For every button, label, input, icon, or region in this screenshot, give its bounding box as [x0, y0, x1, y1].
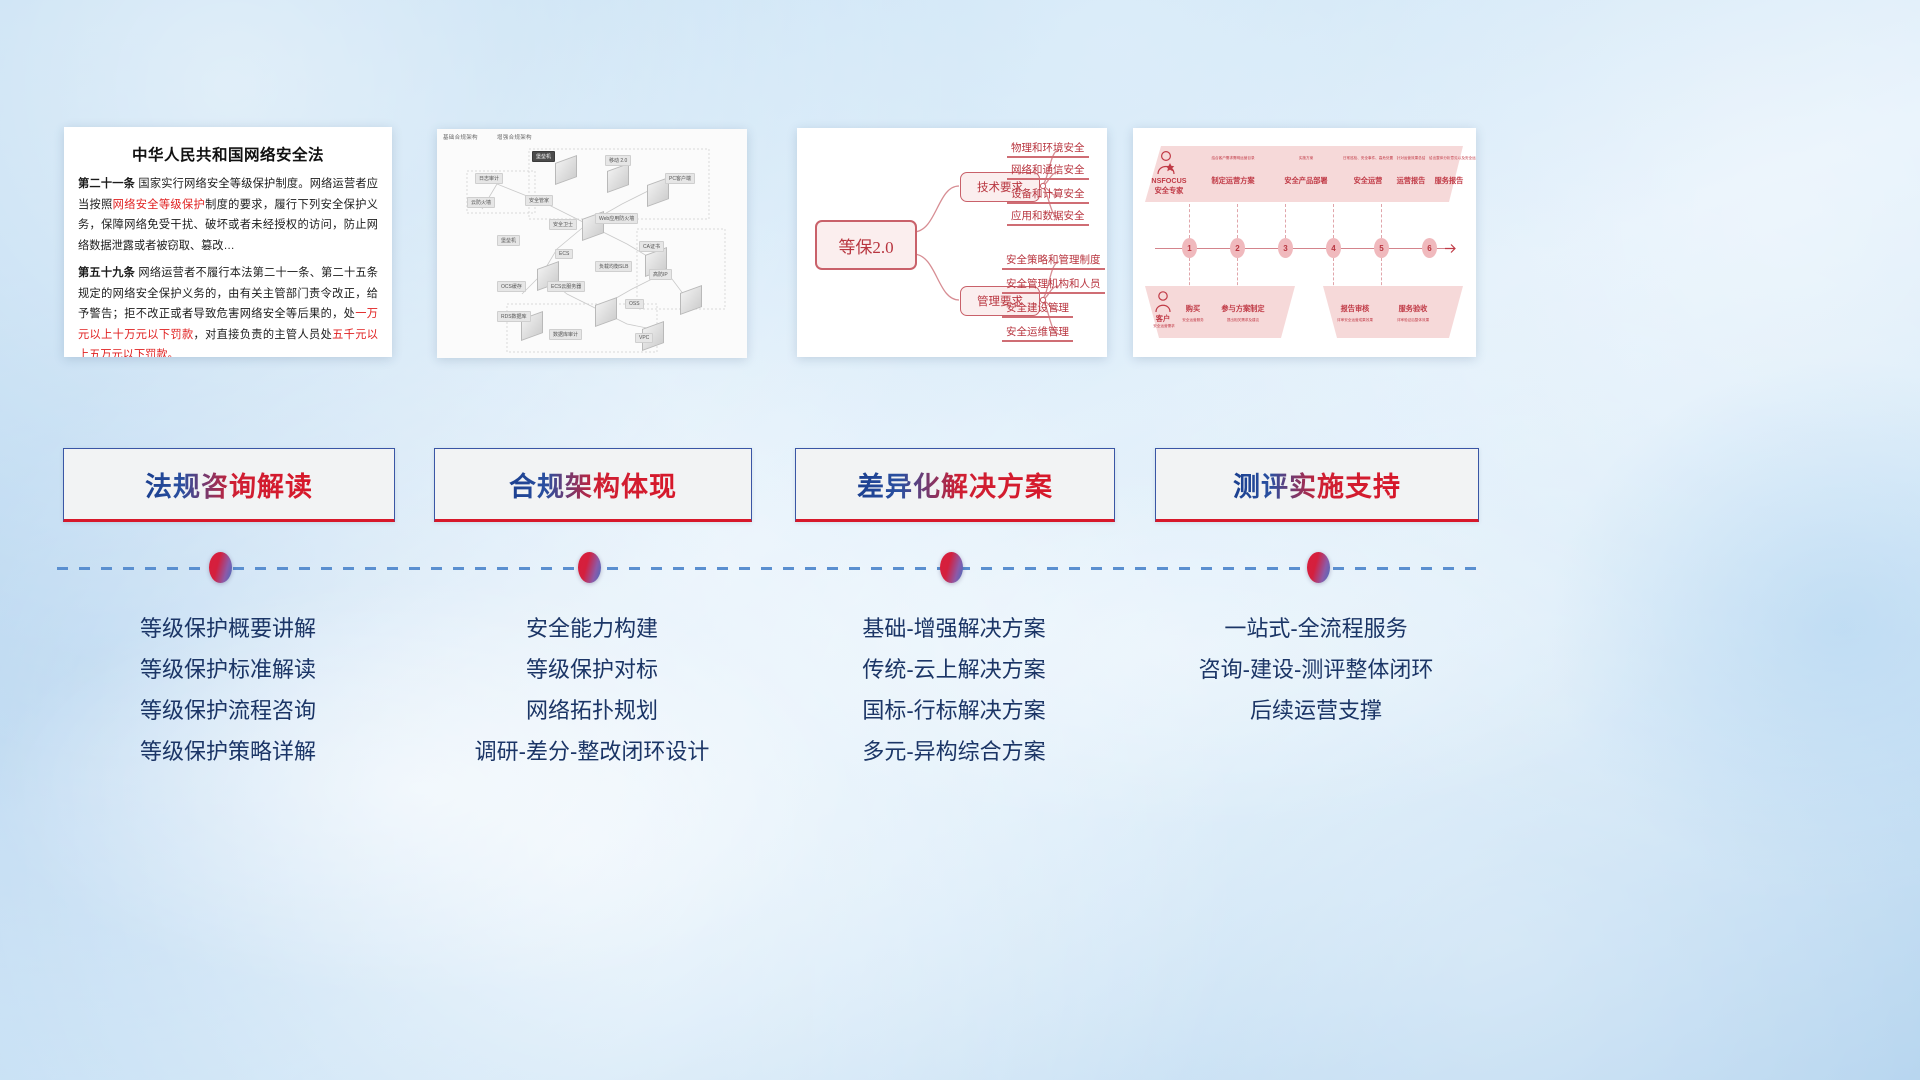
arch-node-ca: CA证书 — [639, 241, 664, 252]
customer-person-icon — [1153, 290, 1173, 314]
arch-node-ocs: OCS缓存 — [497, 281, 526, 292]
headline-box-1[interactable]: 法规咨询解读 — [63, 448, 395, 522]
mindmap-leaf-1-0: 安全策略和管理制度 — [1002, 252, 1105, 270]
arch-node-audit: 数据库审计 — [549, 329, 582, 340]
nsfocus-top-band — [1145, 146, 1463, 202]
list-item: 等级保护对标 — [434, 649, 750, 690]
law-title: 中华人民共和国网络安全法 — [78, 143, 378, 165]
mindmap-leaf-0-3: 应用和数据安全 — [1007, 208, 1089, 226]
nsfocus-dash-5 — [1189, 258, 1190, 290]
nsfocus-bottom-label-3: 服务验收 — [1385, 304, 1441, 314]
nsfocus-dash-7 — [1333, 258, 1334, 290]
arch-node-pc: PC客户端 — [665, 173, 695, 184]
headline-label-2: 合规架构体现 — [509, 465, 677, 504]
mindmap-leaf-1-2: 安全建设管理 — [1002, 300, 1073, 318]
nsfocus-step-number-5: 5 — [1374, 238, 1389, 258]
nsfocus-top-caption-3: 针对运营效果总结 — [1387, 156, 1435, 161]
law-article-label-2: 第五十九条 — [78, 267, 135, 279]
arch-node-ecs-server: ECS云服务器 — [547, 281, 585, 292]
list-item: 网络拓扑规划 — [434, 690, 750, 731]
nsfocus-top-caption-4: 给出整体分析意见以及安全运营效果 — [1429, 156, 1469, 161]
nsfocus-dash-8 — [1381, 258, 1382, 290]
timeline-dot-1[interactable] — [209, 552, 232, 583]
arch-node-mobile: 移动 2.0 — [605, 155, 631, 166]
arch-node-rds: RDS数据库 — [497, 311, 531, 322]
architecture-canvas: 基础合规架构 增强合规架构 — [437, 129, 747, 358]
card-mindmap: 等保2.0 技术要求 管理要求 物理和环境安全 网络和通信安全 设备和计算安全 … — [797, 128, 1107, 357]
headline-label-4: 测评实施支持 — [1233, 465, 1401, 504]
arch-node-manager: 安全管家 — [525, 195, 553, 206]
mindmap-leaf-0-1: 网络和通信安全 — [1007, 162, 1089, 180]
nsfocus-dash-6 — [1237, 258, 1238, 290]
mindmap-leaf-1-1: 安全管理机构和人员 — [1002, 276, 1105, 294]
nsfocus-canvas: NSFOCUS 安全专家 结合客户需求需明运营目录 制定运营方案 实施方案 安全… — [1133, 128, 1476, 357]
arch-node-oss: OSS — [625, 299, 644, 309]
headline-label-1: 法规咨询解读 — [145, 465, 313, 504]
timeline-dot-3[interactable] — [940, 552, 963, 583]
list-item: 咨询-建设-测评整体闭环 — [1155, 649, 1477, 690]
nsfocus-step-number-1: 1 — [1182, 238, 1197, 258]
arch-node-fw: 云防火墙 — [467, 197, 495, 208]
arch-node-bastion2: 堡垒机 — [497, 235, 520, 246]
nsfocus-bottom-label-1: 参与方案制定 — [1213, 304, 1273, 314]
list-item: 基础-增强解决方案 — [795, 608, 1113, 649]
nsfocus-bottom-caption-2: 评审安全运营成果效果 — [1325, 318, 1385, 323]
mindmap-leaf-0-2: 设备和计算安全 — [1007, 186, 1089, 204]
nsfocus-top-caption-0: 结合客户需求需明运营目录 — [1195, 156, 1271, 161]
list-item: 一站式-全流程服务 — [1155, 608, 1477, 649]
nsfocus-bottom-caption-0: 安全运营服务 — [1171, 318, 1215, 323]
headline-box-4[interactable]: 测评实施支持 — [1155, 448, 1479, 522]
nsfocus-dash-0 — [1189, 204, 1190, 238]
law-seg-1-1: 网络安全等级保护 — [113, 199, 205, 211]
nsfocus-top-caption-1: 实施方案 — [1275, 156, 1337, 161]
arch-node-slb: 负载均衡SLB — [595, 261, 632, 272]
nsfocus-bottom-label-2: 报告审核 — [1327, 304, 1383, 314]
nsfocus-top-label-4: 服务报告 — [1429, 176, 1469, 186]
nsfocus-step-number-6: 6 — [1422, 238, 1437, 258]
list-item: 等级保护策略详解 — [63, 731, 393, 772]
list-item: 等级保护流程咨询 — [63, 690, 393, 731]
nsfocus-dash-1 — [1237, 204, 1238, 238]
timeline-dashed-line — [57, 567, 1476, 570]
nsfocus-bottom-label-0: 购买 — [1175, 304, 1211, 314]
card-architecture-diagram: 基础合规架构 增强合规架构 — [437, 129, 747, 358]
nsfocus-top-label-3: 运营报告 — [1387, 176, 1435, 186]
law-seg-2-2: ，对直接负责的主管人员处 — [194, 329, 333, 341]
arch-node-bastion: 堡垒机 — [532, 151, 555, 162]
nsfocus-step-number-4: 4 — [1326, 238, 1341, 258]
arch-node-waf2: 日志审计 — [475, 173, 503, 184]
feature-column-2: 安全能力构建 等级保护对标 网络拓扑规划 调研-差分-整改闭环设计 — [434, 608, 750, 772]
arch-node-ecs: ECS — [555, 249, 573, 259]
nsfocus-dash-4 — [1381, 204, 1382, 238]
expert-person-icon — [1155, 150, 1177, 176]
nsfocus-top-label-0: 制定运营方案 — [1195, 176, 1271, 186]
timeline-dot-4[interactable] — [1307, 552, 1330, 583]
list-item: 安全能力构建 — [434, 608, 750, 649]
list-item: 等级保护概要讲解 — [63, 608, 393, 649]
card-nsfocus-timeline: NSFOCUS 安全专家 结合客户需求需明运营目录 制定运营方案 实施方案 安全… — [1133, 128, 1476, 357]
arch-node-vpc: VPC — [635, 333, 653, 343]
nsfocus-bottom-caption-3: 评审验证后整体效果 — [1383, 318, 1443, 323]
list-item: 后续运营支撑 — [1155, 690, 1477, 731]
nsfocus-customer-caption: 安全运营需求 — [1143, 324, 1185, 329]
nsfocus-step-number-2: 2 — [1230, 238, 1245, 258]
nsfocus-top-label-1: 安全产品部署 — [1271, 176, 1341, 186]
nsfocus-dash-3 — [1333, 204, 1334, 238]
list-item: 传统-云上解决方案 — [795, 649, 1113, 690]
arch-header-right: 增强合规架构 — [497, 133, 532, 141]
axis-arrow-icon — [1445, 242, 1459, 255]
mindmap-leaf-1-3: 安全运维管理 — [1002, 324, 1073, 342]
arch-node-waf: Web应用防火墙 — [595, 213, 638, 224]
nsfocus-step-number-3: 3 — [1278, 238, 1293, 258]
nsfocus-brand-sub: 安全专家 — [1149, 186, 1189, 196]
nsfocus-bottom-caption-1: 提出相关需求及建议 — [1211, 318, 1275, 323]
feature-column-4: 一站式-全流程服务 咨询-建设-测评整体闭环 后续运营支撑 — [1155, 608, 1477, 731]
list-item: 调研-差分-整改闭环设计 — [434, 731, 750, 772]
law-article-label-1: 第二十一条 — [78, 178, 135, 190]
law-document-body: 中华人民共和国网络安全法 第二十一条 国家实行网络安全等级保护制度。网络运营者应… — [64, 127, 392, 357]
feature-column-3: 基础-增强解决方案 传统-云上解决方案 国标-行标解决方案 多元-异构综合方案 — [795, 608, 1113, 772]
arch-header-left: 基础合规架构 — [443, 133, 478, 141]
arch-node-anti-ddos: 高防IP — [649, 269, 672, 280]
mindmap-canvas: 等保2.0 技术要求 管理要求 物理和环境安全 网络和通信安全 设备和计算安全 … — [797, 128, 1107, 357]
list-item: 国标-行标解决方案 — [795, 690, 1113, 731]
headline-label-3: 差异化解决方案 — [857, 465, 1053, 504]
arch-link-lines — [437, 129, 747, 358]
mindmap-leaf-0-0: 物理和环境安全 — [1007, 140, 1089, 158]
list-item: 多元-异构综合方案 — [795, 731, 1113, 772]
law-paragraph-1: 第二十一条 国家实行网络安全等级保护制度。网络运营者应当按照网络安全等级保护制度… — [78, 174, 378, 256]
headline-box-3[interactable]: 差异化解决方案 — [795, 448, 1115, 522]
law-paragraph-2: 第五十九条 网络运营者不履行本法第二十一条、第二十五条规定的网络安全保护义务的，… — [78, 263, 378, 357]
arch-node-guard: 安全卫士 — [549, 219, 577, 230]
timeline-dot-2[interactable] — [578, 552, 601, 583]
list-item: 等级保护标准解读 — [63, 649, 393, 690]
mindmap-root: 等保2.0 — [815, 220, 917, 270]
nsfocus-dash-2 — [1285, 204, 1286, 238]
nsfocus-axis — [1155, 248, 1451, 249]
headline-box-2[interactable]: 合规架构体现 — [434, 448, 752, 522]
image-card-row: 中华人民共和国网络安全法 第二十一条 国家实行网络安全等级保护制度。网络运营者应… — [0, 0, 1920, 1080]
feature-column-1: 等级保护概要讲解 等级保护标准解读 等级保护流程咨询 等级保护策略详解 — [63, 608, 393, 772]
nsfocus-brand: NSFOCUS — [1149, 176, 1189, 185]
card-law-document: 中华人民共和国网络安全法 第二十一条 国家实行网络安全等级保护制度。网络运营者应… — [64, 127, 392, 357]
